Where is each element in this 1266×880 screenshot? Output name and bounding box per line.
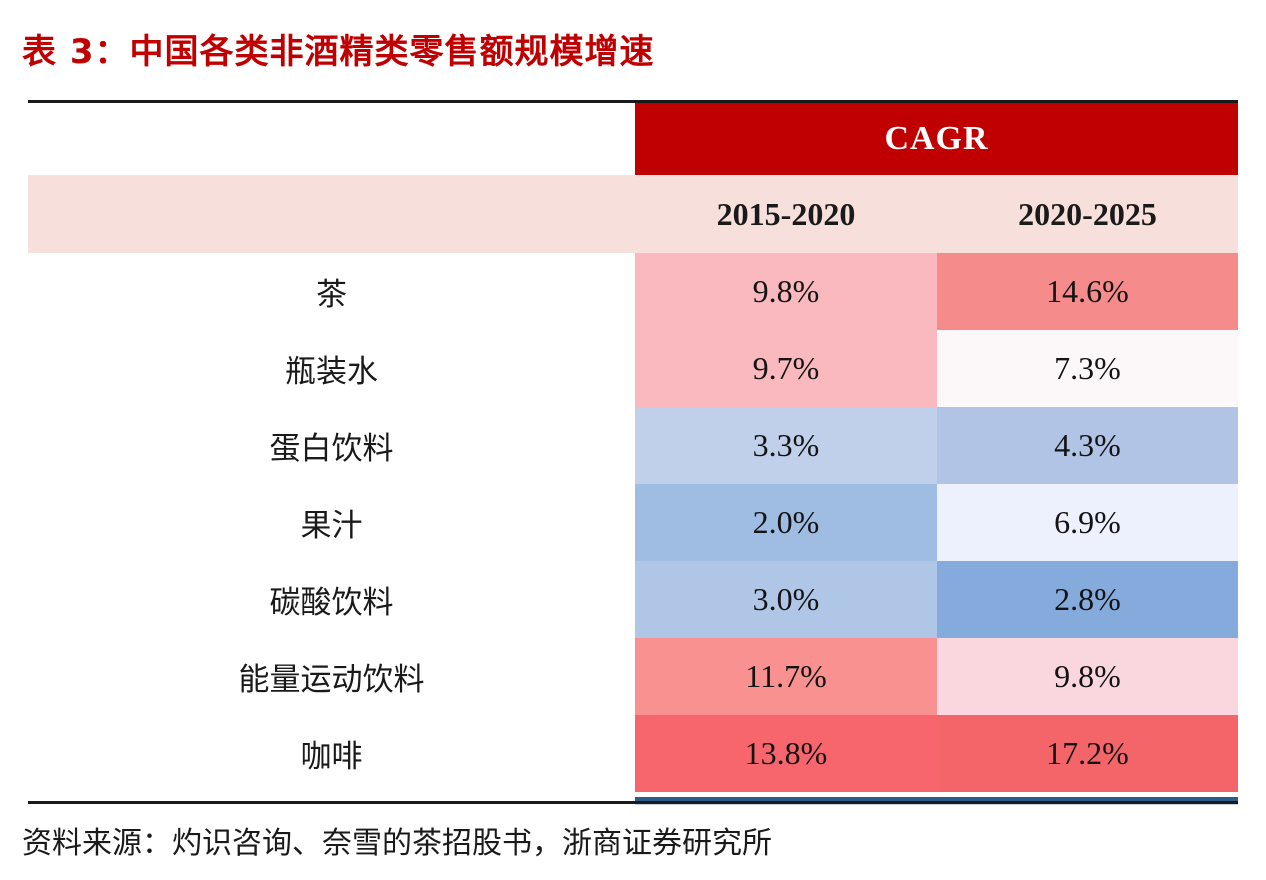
table-header-row-periods: 2015-2020 2020-2025 — [28, 175, 1238, 253]
table-row: 咖啡 13.8% 17.2% — [28, 715, 1238, 792]
cell-2020-2025: 4.3% — [937, 407, 1238, 484]
row-label: 能量运动饮料 — [28, 638, 635, 715]
table-row: 能量运动饮料 11.7% 9.8% — [28, 638, 1238, 715]
cell-2015-2020: 13.8% — [635, 715, 937, 792]
table-header-row-group: CAGR — [28, 103, 1238, 175]
row-label: 茶 — [28, 253, 635, 330]
cagr-table: CAGR 2015-2020 2020-2025 茶 9.8% 14.6% 瓶装… — [28, 103, 1238, 792]
cell-2015-2020: 3.0% — [635, 561, 937, 638]
table-row: 碳酸饮料 3.0% 2.8% — [28, 561, 1238, 638]
header-spacer — [28, 103, 635, 175]
row-label: 蛋白饮料 — [28, 407, 635, 484]
cell-2020-2025: 2.8% — [937, 561, 1238, 638]
cell-2020-2025: 14.6% — [937, 253, 1238, 330]
cell-2015-2020: 9.7% — [635, 330, 937, 407]
source-note: 资料来源：灼识咨询、奈雪的茶招股书，浙商证券研究所 — [22, 818, 772, 862]
table-figure: 表 3：中国各类非酒精类零售额规模增速 CAGR 2015-2020 2020-… — [0, 0, 1266, 880]
cell-2015-2020: 3.3% — [635, 407, 937, 484]
table-row: 瓶装水 9.7% 7.3% — [28, 330, 1238, 407]
cell-2015-2020: 9.8% — [635, 253, 937, 330]
table-body: 茶 9.8% 14.6% 瓶装水 9.7% 7.3% 蛋白饮料 3.3% 4.3… — [28, 253, 1238, 792]
table-row: 茶 9.8% 14.6% — [28, 253, 1238, 330]
page-title: 表 3：中国各类非酒精类零售额规模增速 — [22, 24, 655, 73]
table-bottom-divider — [28, 801, 1238, 804]
cell-2015-2020: 2.0% — [635, 484, 937, 561]
subheader-spacer — [28, 175, 635, 253]
cell-2020-2025: 7.3% — [937, 330, 1238, 407]
cagr-table-wrapper: CAGR 2015-2020 2020-2025 茶 9.8% 14.6% 瓶装… — [28, 103, 1238, 792]
row-label: 碳酸饮料 — [28, 561, 635, 638]
cell-2020-2025: 6.9% — [937, 484, 1238, 561]
cell-2020-2025: 17.2% — [937, 715, 1238, 792]
group-header-cagr: CAGR — [635, 103, 1238, 175]
table-head: CAGR 2015-2020 2020-2025 — [28, 103, 1238, 253]
cell-2020-2025: 9.8% — [937, 638, 1238, 715]
table-row: 果汁 2.0% 6.9% — [28, 484, 1238, 561]
table-row: 蛋白饮料 3.3% 4.3% — [28, 407, 1238, 484]
row-label: 咖啡 — [28, 715, 635, 792]
cell-2015-2020: 11.7% — [635, 638, 937, 715]
row-label: 瓶装水 — [28, 330, 635, 407]
column-header-2015-2020: 2015-2020 — [635, 175, 937, 253]
row-label: 果汁 — [28, 484, 635, 561]
column-header-2020-2025: 2020-2025 — [937, 175, 1238, 253]
